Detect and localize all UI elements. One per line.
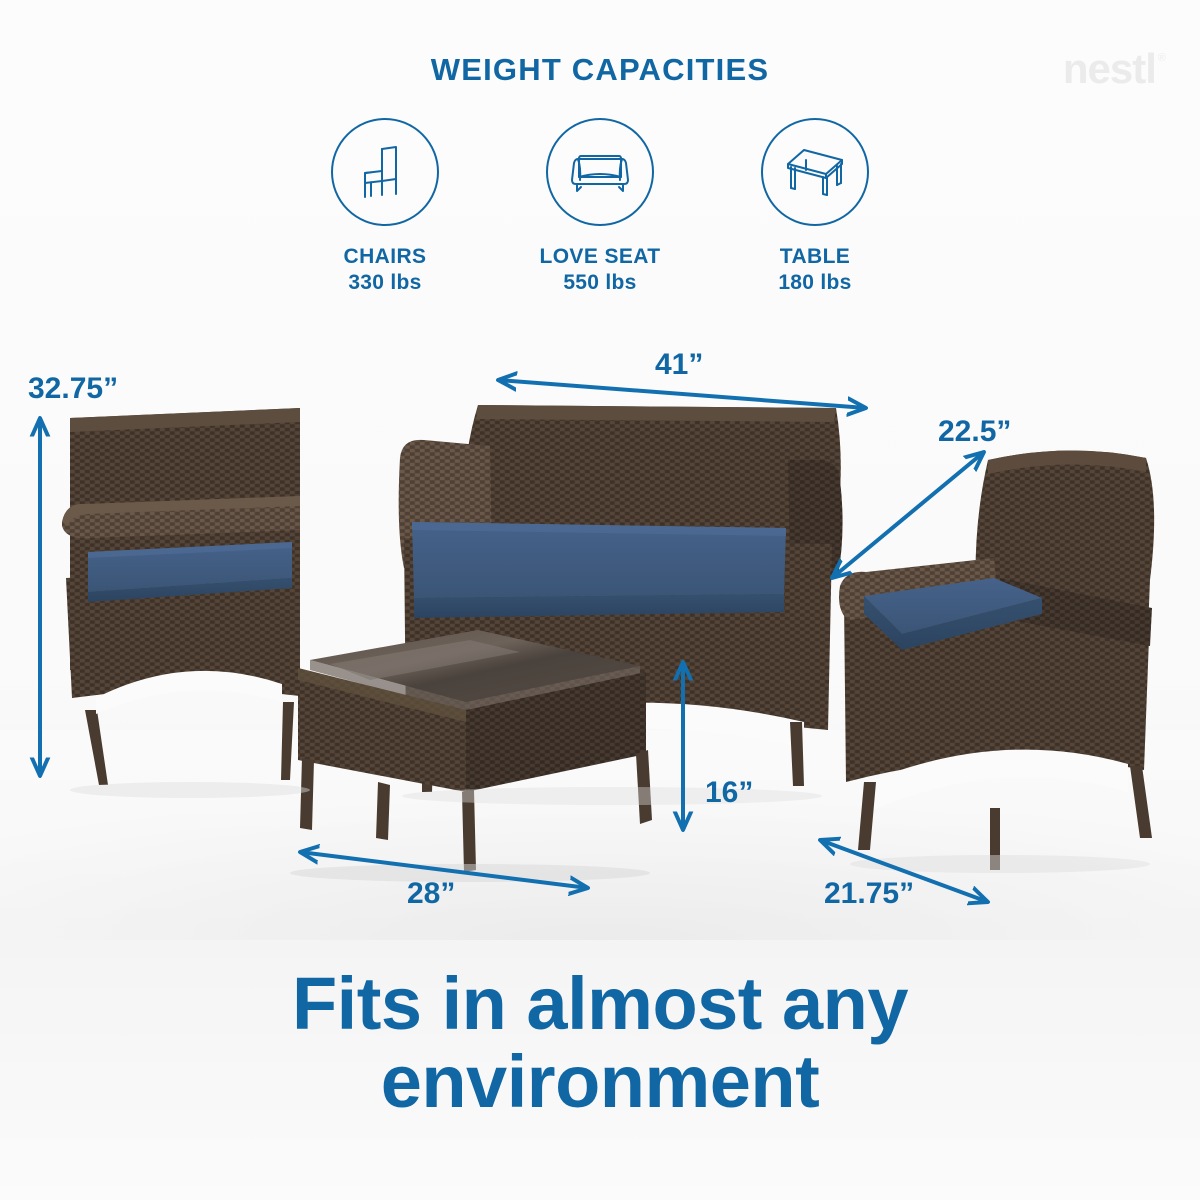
dimension-label-table-height: 16” xyxy=(705,776,753,810)
tagline-line-1: Fits in almost any xyxy=(0,965,1200,1043)
arrow-loveseat-width xyxy=(498,380,866,408)
dimension-label-chair-height: 32.75” xyxy=(28,372,118,406)
infographic-canvas: nestl ® WEIGHT CAPACITIES xyxy=(0,0,1200,1200)
dimension-label-table-width: 28” xyxy=(407,877,455,911)
dimension-label-loveseat-width: 41” xyxy=(655,348,703,382)
tagline-line-2: environment xyxy=(0,1043,1200,1121)
arrow-chair-depth xyxy=(832,452,984,578)
dimension-label-chair-depth: 22.5” xyxy=(938,415,1011,449)
tagline: Fits in almost any environment xyxy=(0,965,1200,1120)
dimension-label-chair-width: 21.75” xyxy=(824,877,914,911)
